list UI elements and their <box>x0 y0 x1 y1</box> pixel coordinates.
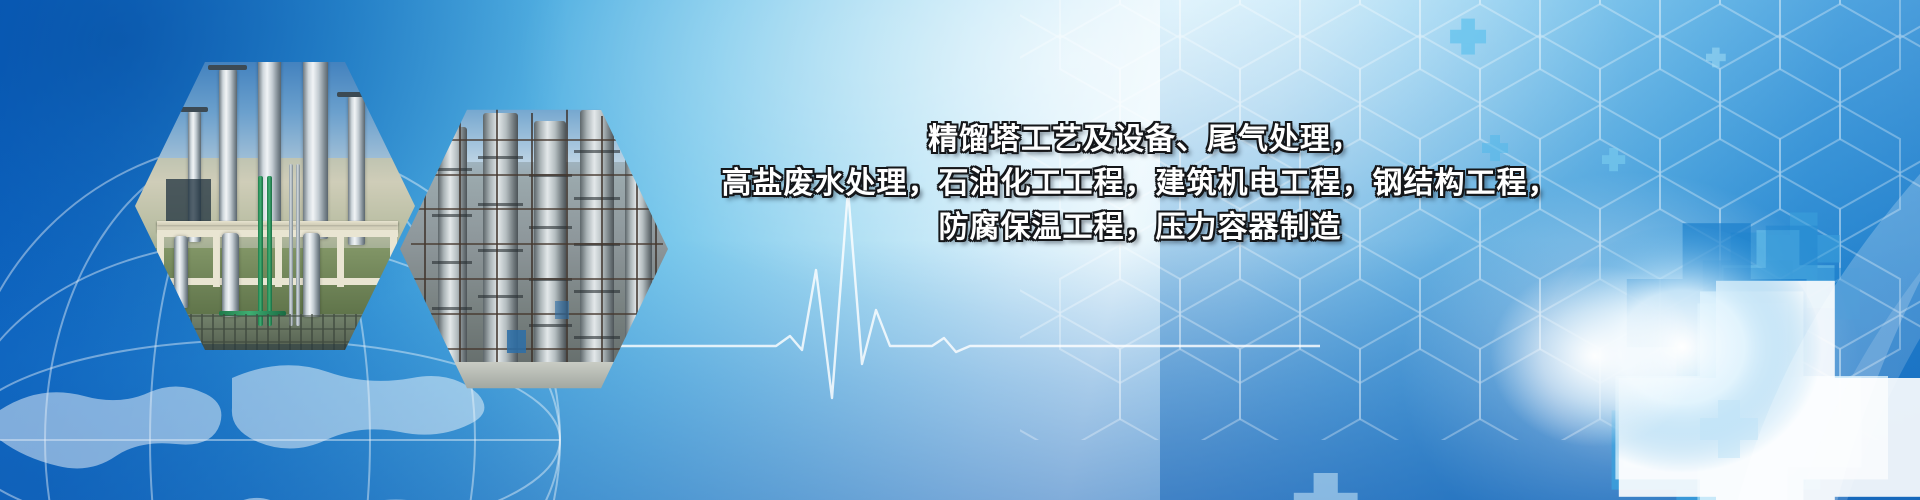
headline-line-1: 精馏塔工艺及设备、尾气处理， <box>570 118 1720 162</box>
hero-banner: 精馏塔工艺及设备、尾气处理， 高盐废水处理，石油化工工程，建筑机电工程，钢结构工… <box>0 0 1920 500</box>
headline-line-2: 高盐废水处理，石油化工工程，建筑机电工程，钢结构工程， <box>560 162 1720 206</box>
headline-line-3: 防腐保温工程，压力容器制造 <box>560 206 1720 250</box>
headline-block: 精馏塔工艺及设备、尾气处理， 高盐废水处理，石油化工工程，建筑机电工程，钢结构工… <box>560 118 1720 250</box>
